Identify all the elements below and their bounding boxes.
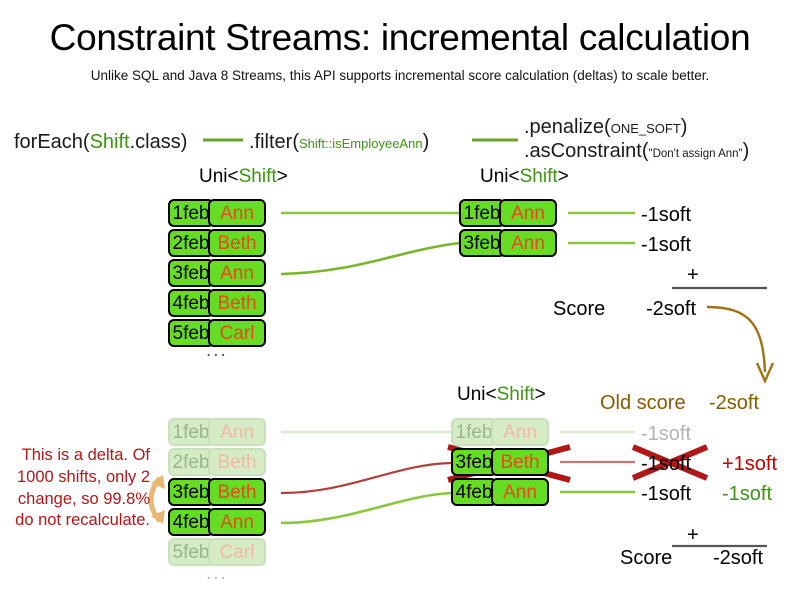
- shift-card: 3febAnn: [168, 259, 266, 287]
- penalty-value-bottom-2: -1soft: [641, 453, 691, 476]
- shift-card-employee: Ann: [499, 229, 557, 257]
- code-as-constraint-arg: "Don't assign Ann": [649, 148, 743, 160]
- shift-card-employee: Ann: [499, 199, 557, 227]
- shift-card: 2febBeth: [168, 229, 266, 257]
- shift-card: 3febBeth: [168, 478, 266, 506]
- code-filter-suffix: ): [423, 131, 430, 153]
- code-as-constraint-prefix: .asConstraint(: [524, 140, 649, 162]
- uni-pre: Uni<: [480, 166, 520, 187]
- penalty-value-top-1: -1soft: [641, 204, 691, 227]
- code-foreach: forEach(Shift.class): [14, 131, 187, 154]
- code-filter: .filter(Shift::isEmployeeAnn): [249, 131, 429, 154]
- score-label-top: Score: [553, 298, 605, 321]
- uni-type: Shift: [520, 166, 558, 187]
- uni-pre: Uni<: [199, 166, 239, 187]
- score-value-top: -2soft: [646, 298, 696, 321]
- uni-label-delta: Uni<Shift>: [457, 384, 546, 406]
- shift-card: 5febCarl: [168, 538, 266, 566]
- delta-value-1: +1soft: [722, 453, 777, 476]
- shift-card-employee: Beth: [491, 448, 549, 476]
- uni-pre: Uni<: [457, 384, 497, 405]
- penalty-value-top-2: -1soft: [641, 234, 691, 257]
- shift-card-employee: Carl: [208, 538, 266, 566]
- code-foreach-suffix: .class): [130, 131, 188, 153]
- score-value-bottom: -2soft: [713, 547, 763, 570]
- flow-line-3feb: [281, 243, 460, 274]
- swap-arrow-head-up: [151, 475, 165, 489]
- shift-card-employee: Beth: [208, 448, 266, 476]
- flow-line-b-4feb: [281, 493, 452, 523]
- shift-card-employee: Ann: [208, 508, 266, 536]
- code-filter-prefix: .filter(: [249, 131, 299, 153]
- old-score-arrow: [707, 307, 765, 372]
- shift-card: 3febAnn: [459, 229, 557, 257]
- code-foreach-type: Shift: [90, 131, 130, 153]
- shift-card-employee: Ann: [491, 478, 549, 506]
- shift-card-employee: Ann: [208, 259, 266, 287]
- shift-card: 1febAnn: [451, 418, 549, 446]
- shift-card: 1febAnn: [168, 199, 266, 227]
- code-penalize-arg: ONE_SOFT: [611, 121, 681, 136]
- shift-card: 4febBeth: [168, 289, 266, 317]
- uni-post: >: [558, 166, 569, 187]
- old-score-arrowhead: [757, 363, 773, 381]
- code-filter-ref: Shift::isEmployeeAnn: [299, 136, 423, 151]
- uni-type: Shift: [239, 166, 277, 187]
- source-ellipsis-bottom: ...: [206, 563, 228, 585]
- swap-arrow-curve: [151, 478, 160, 521]
- uni-post: >: [277, 166, 288, 187]
- plus-sign-bottom: +: [687, 524, 699, 547]
- shift-card-employee: Beth: [208, 229, 266, 257]
- shift-card: 1febAnn: [168, 418, 266, 446]
- uni-post: >: [535, 384, 546, 405]
- shift-card-employee: Beth: [208, 478, 266, 506]
- uni-type: Shift: [497, 384, 535, 405]
- uni-label-filtered: Uni<Shift>: [480, 166, 569, 188]
- shift-card: 5febCarl: [168, 319, 266, 347]
- page-subtitle: Unlike SQL and Java 8 Streams, this API …: [0, 68, 800, 83]
- shift-card-employee: Carl: [208, 319, 266, 347]
- score-label-bottom: Score: [620, 547, 672, 570]
- delta-value-2: -1soft: [722, 483, 772, 506]
- swap-arrow-head-down: [151, 510, 165, 524]
- code-penalize-suffix: ): [681, 116, 688, 138]
- code-foreach-prefix: forEach(: [14, 131, 90, 153]
- code-as-constraint-suffix: ): [743, 140, 750, 162]
- penalty-value-bottom-1: -1soft: [641, 423, 691, 446]
- shift-card: 4febAnn: [168, 508, 266, 536]
- code-penalize-prefix: .penalize(: [524, 116, 611, 138]
- penalty-value-bottom-3: -1soft: [641, 483, 691, 506]
- shift-card-employee: Ann: [491, 418, 549, 446]
- shift-card: 4febAnn: [451, 478, 549, 506]
- page-title: Constraint Streams: incremental calculat…: [0, 17, 800, 59]
- shift-card: 2febBeth: [168, 448, 266, 476]
- shift-card-employee: Ann: [208, 199, 266, 227]
- uni-label-source: Uni<Shift>: [199, 166, 288, 188]
- plus-sign-top: +: [687, 264, 699, 287]
- delta-explanation-note: This is a delta. Of 1000 shifts, only 2 …: [8, 445, 150, 532]
- flow-line-b-3feb: [281, 463, 452, 493]
- shift-card-employee: Ann: [208, 418, 266, 446]
- shift-card: 1febAnn: [459, 199, 557, 227]
- shift-card-employee: Beth: [208, 289, 266, 317]
- code-as-constraint: .asConstraint("Don't assign Ann"): [524, 140, 749, 163]
- shift-card: 3febBeth: [451, 448, 549, 476]
- old-score-value: -2soft: [709, 392, 759, 415]
- code-penalize: .penalize(ONE_SOFT): [524, 116, 687, 139]
- old-score-label: Old score: [600, 392, 686, 415]
